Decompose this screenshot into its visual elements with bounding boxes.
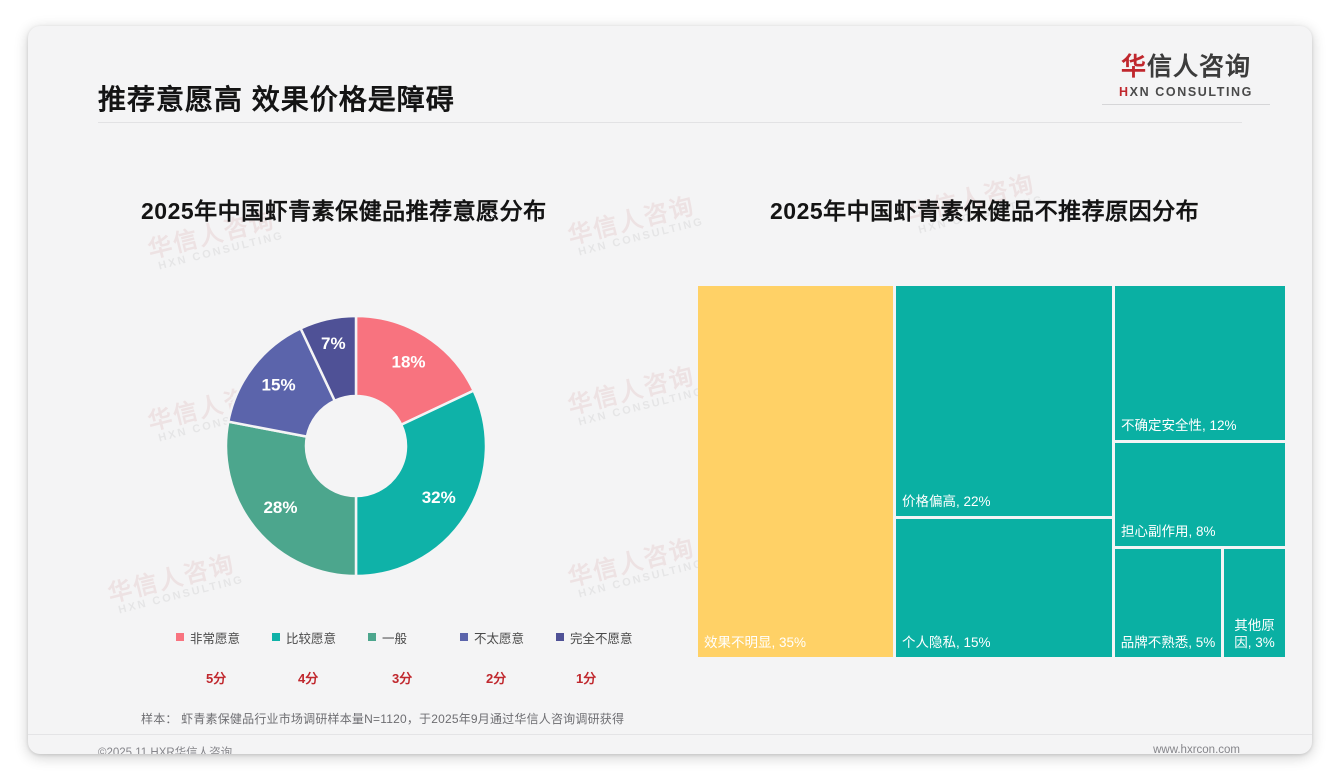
logo-english-rest: XN CONSULTING — [1130, 85, 1253, 99]
donut-score-row: 5分4分3分2分1分 — [176, 666, 646, 688]
treemap-chart: 效果不明显, 35%价格偏高, 22%个人隐私, 15%不确定安全性, 12%担… — [698, 286, 1285, 657]
treemap-cell-4[interactable]: 不确定安全性, 12% — [1115, 286, 1285, 440]
donut-slice-label-4: 15% — [262, 375, 296, 394]
treemap-cell-label: 其他原因, 3% — [1227, 618, 1282, 652]
legend-item-5[interactable]: 完全不愿意 — [556, 628, 646, 647]
treemap-cell-label: 效果不明显, 35% — [704, 635, 889, 652]
donut-legend: 非常愿意比较愿意一般不太愿意完全不愿意 — [176, 626, 646, 648]
legend-swatch-icon — [176, 633, 184, 641]
donut-slice-2[interactable] — [356, 391, 486, 576]
logo-english: HXN CONSULTING — [1102, 85, 1270, 99]
treemap-cell-6[interactable]: 品牌不熟悉, 5% — [1115, 549, 1221, 657]
treemap-cell-2[interactable]: 价格偏高, 22% — [896, 286, 1112, 516]
score-label-2: 4分 — [298, 668, 318, 687]
treemap-cell-label: 价格偏高, 22% — [902, 494, 1108, 511]
legend-item-4[interactable]: 不太愿意 — [460, 628, 556, 647]
legend-label: 完全不愿意 — [570, 628, 633, 647]
logo-chinese: 华信人咨询 — [1102, 54, 1270, 82]
donut-slice-label-2: 32% — [422, 488, 456, 507]
score-label-3: 3分 — [392, 668, 412, 687]
treemap-cell-7[interactable]: 其他原因, 3% — [1224, 549, 1285, 657]
legend-label: 一般 — [382, 628, 407, 647]
slide-header: 推荐意愿高 效果价格是障碍 华信人咨询 HXN CONSULTING — [28, 26, 1312, 122]
footer-copyright: ©2025.11 HXR华信人咨询 — [98, 744, 232, 754]
brand-logo: 华信人咨询 HXN CONSULTING — [1102, 54, 1270, 105]
legend-swatch-icon — [556, 633, 564, 641]
treemap-cell-3[interactable]: 个人隐私, 15% — [896, 519, 1112, 657]
logo-english-accent: H — [1119, 85, 1130, 99]
logo-chinese-accent: 华 — [1121, 53, 1147, 81]
logo-divider — [1102, 104, 1270, 105]
treemap-cell-label: 个人隐私, 15% — [902, 635, 1108, 652]
legend-swatch-icon — [368, 633, 376, 641]
page-title: 推荐意愿高 效果价格是障碍 — [98, 78, 455, 118]
watermark-cn: 华信人咨询 — [565, 192, 698, 250]
score-label-5: 1分 — [576, 668, 596, 687]
footer-website: www.hxrcon.com — [1153, 744, 1240, 754]
watermark-en: HXN CONSULTING — [577, 217, 705, 259]
donut-slice-label-1: 18% — [391, 353, 425, 372]
score-label-1: 5分 — [206, 668, 226, 687]
legend-label: 比较愿意 — [286, 628, 336, 647]
slide-canvas: 华信人咨询HXN CONSULTING 华信人咨询HXN CONSULTING … — [28, 26, 1312, 754]
watermark-en: HXN CONSULTING — [157, 231, 285, 273]
legend-swatch-icon — [460, 633, 468, 641]
legend-label: 非常愿意 — [190, 628, 240, 647]
score-label-4: 2分 — [486, 668, 506, 687]
donut-slice-label-3: 28% — [263, 498, 297, 517]
treemap-chart-title: 2025年中国虾青素保健品不推荐原因分布 — [770, 192, 1199, 226]
donut-slice-label-5: 7% — [321, 334, 346, 353]
treemap-cell-label: 品牌不熟悉, 5% — [1118, 635, 1218, 652]
treemap-cell-label: 担心副作用, 8% — [1121, 524, 1281, 541]
donut-chart-title: 2025年中国虾青素保健品推荐意愿分布 — [141, 192, 547, 226]
header-divider — [98, 122, 1242, 123]
treemap-cell-1[interactable]: 效果不明显, 35% — [698, 286, 893, 657]
legend-label: 不太愿意 — [474, 628, 524, 647]
logo-chinese-rest: 信人咨询 — [1147, 53, 1251, 81]
legend-item-2[interactable]: 比较愿意 — [272, 628, 368, 647]
legend-swatch-icon — [272, 633, 280, 641]
footer-divider — [28, 734, 1312, 735]
source-footnote: 样本： 虾青素保健品行业市场调研样本量N=1120，于2025年9月通过华信人咨… — [141, 710, 624, 727]
donut-chart: 18%32%28%15%7% — [180, 271, 600, 621]
donut-svg: 18%32%28%15%7% — [180, 271, 600, 621]
legend-item-3[interactable]: 一般 — [368, 628, 460, 647]
treemap-cell-5[interactable]: 担心副作用, 8% — [1115, 443, 1285, 546]
treemap-cell-label: 不确定安全性, 12% — [1121, 418, 1281, 435]
legend-item-1[interactable]: 非常愿意 — [176, 628, 272, 647]
